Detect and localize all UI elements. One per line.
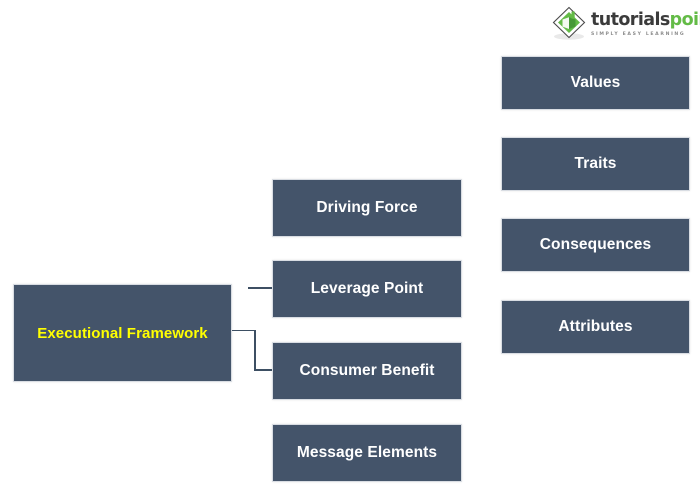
- node-label: Leverage Point: [311, 280, 424, 298]
- node-traits[interactable]: Traits: [501, 137, 690, 191]
- connector-root-to-consumer-benefit-vertical: [254, 330, 256, 371]
- tutorialspoint-logo: tutorialspoint SIMPLY EASY LEARNING: [550, 4, 695, 44]
- connector-root-to-consumer-benefit-arm: [254, 369, 272, 371]
- logo-wordmark: tutorialspoint SIMPLY EASY LEARNING: [591, 10, 700, 37]
- connector-root-to-consumer-benefit-stub: [232, 330, 256, 331]
- connector-root-to-leverage-point-horizontal: [248, 287, 272, 289]
- node-executional-framework[interactable]: Executional Framework: [13, 284, 232, 382]
- logo-tagline: SIMPLY EASY LEARNING: [591, 33, 700, 38]
- logo-word-tutorials: tutorials: [591, 10, 670, 30]
- node-label: Values: [571, 74, 621, 92]
- node-consequences[interactable]: Consequences: [501, 218, 690, 272]
- node-label: Consequences: [540, 236, 651, 254]
- node-label: Traits: [575, 155, 617, 173]
- node-driving-force[interactable]: Driving Force: [272, 179, 462, 237]
- node-consumer-benefit[interactable]: Consumer Benefit: [272, 342, 462, 400]
- node-message-elements[interactable]: Message Elements: [272, 424, 462, 482]
- node-attributes[interactable]: Attributes: [501, 300, 690, 354]
- node-label: Executional Framework: [37, 325, 208, 342]
- diagram-canvas: tutorialspoint SIMPLY EASY LEARNING Exec…: [0, 0, 700, 497]
- logo-word-point: point: [670, 10, 700, 30]
- diamond-book-icon: [550, 5, 588, 43]
- node-leverage-point[interactable]: Leverage Point: [272, 260, 462, 318]
- node-label: Attributes: [558, 318, 632, 336]
- node-label: Consumer Benefit: [299, 362, 434, 380]
- node-label: Driving Force: [316, 199, 417, 217]
- node-label: Message Elements: [297, 444, 437, 462]
- node-values[interactable]: Values: [501, 56, 690, 110]
